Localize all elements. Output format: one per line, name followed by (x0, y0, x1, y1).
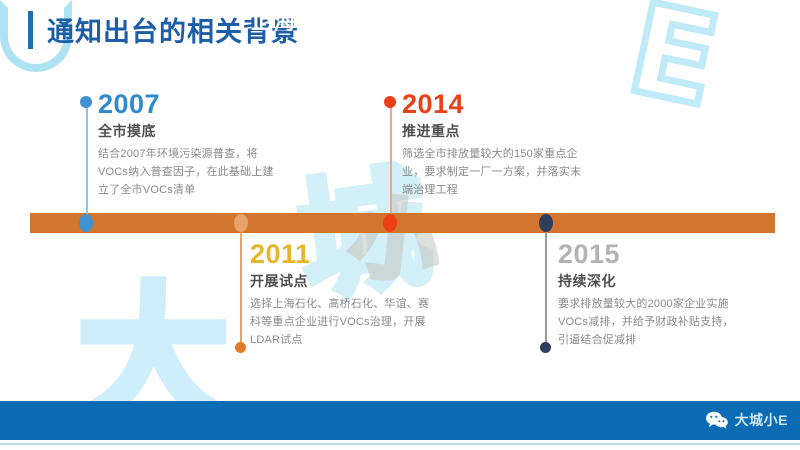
connector-line-2015 (545, 226, 547, 348)
watermark: 大城小E (705, 410, 788, 430)
milestone-2015-year: 2015 (558, 240, 738, 268)
milestone-2007: 2007 全市摸底 结合2007年环境污染源普查，将VOCs纳入普查因子，在此基… (98, 90, 278, 200)
timeline-dot-2014 (383, 214, 397, 232)
milestone-2007-year: 2007 (98, 90, 278, 118)
slide-canvas: E 城 小 大 通知出台的相关背景 2007 全市摸底 结合2007年环境污染源… (0, 0, 800, 450)
wechat-icon (705, 411, 729, 429)
connector-line-2007 (86, 102, 88, 220)
milestone-2014-body: 筛选全市排放量较大的150家重点企业，要求制定一厂一方案，并落实末端治理工程 (402, 146, 582, 199)
milestone-2014-year: 2014 (402, 90, 582, 118)
milestone-2007-body: 结合2007年环境污染源普查，将VOCs纳入普查因子，在此基础上建立了全市VOC… (98, 146, 278, 199)
timeline-dot-2011 (234, 214, 248, 232)
banner-bottom-rule (0, 443, 800, 445)
milestone-2011-subtitle: 开展试点 (250, 271, 430, 291)
timeline-dot-2007-top (80, 96, 92, 108)
milestone-2015-body: 要求排放量较大的2000家企业实施VOCs减排，并给予财政补贴支持，引逼结合促减… (558, 296, 738, 349)
timeline-dot-2011-bottom (235, 342, 246, 353)
bottom-banner (0, 401, 800, 440)
timeline-dot-2015-bottom (540, 342, 551, 353)
milestone-2007-subtitle: 全市摸底 (98, 121, 278, 141)
banner-title: 上海市VOCs治理1.0历程回顾 (0, 0, 800, 39)
timeline-dot-2007 (79, 214, 93, 232)
connector-line-2014 (390, 102, 392, 220)
milestone-2014: 2014 推进重点 筛选全市排放量较大的150家重点企业，要求制定一厂一方案，并… (402, 90, 582, 200)
timeline-dot-2014-top (384, 96, 396, 108)
milestone-2011-body: 选择上海石化、高桥石化、华谊、赛科等重点企业进行VOCs治理，开展LDAR试点 (250, 296, 430, 349)
connector-line-2011 (240, 226, 242, 348)
timeline-bar (30, 213, 775, 233)
milestone-2015-subtitle: 持续深化 (558, 271, 738, 291)
milestone-2011-year: 2011 (250, 240, 430, 268)
milestone-2015: 2015 持续深化 要求排放量较大的2000家企业实施VOCs减排，并给予财政补… (558, 240, 738, 350)
milestone-2014-subtitle: 推进重点 (402, 121, 582, 141)
milestone-2011: 2011 开展试点 选择上海石化、高桥石化、华谊、赛科等重点企业进行VOCs治理… (250, 240, 430, 350)
watermark-label: 大城小E (735, 410, 788, 430)
timeline-dot-2015 (539, 214, 553, 232)
